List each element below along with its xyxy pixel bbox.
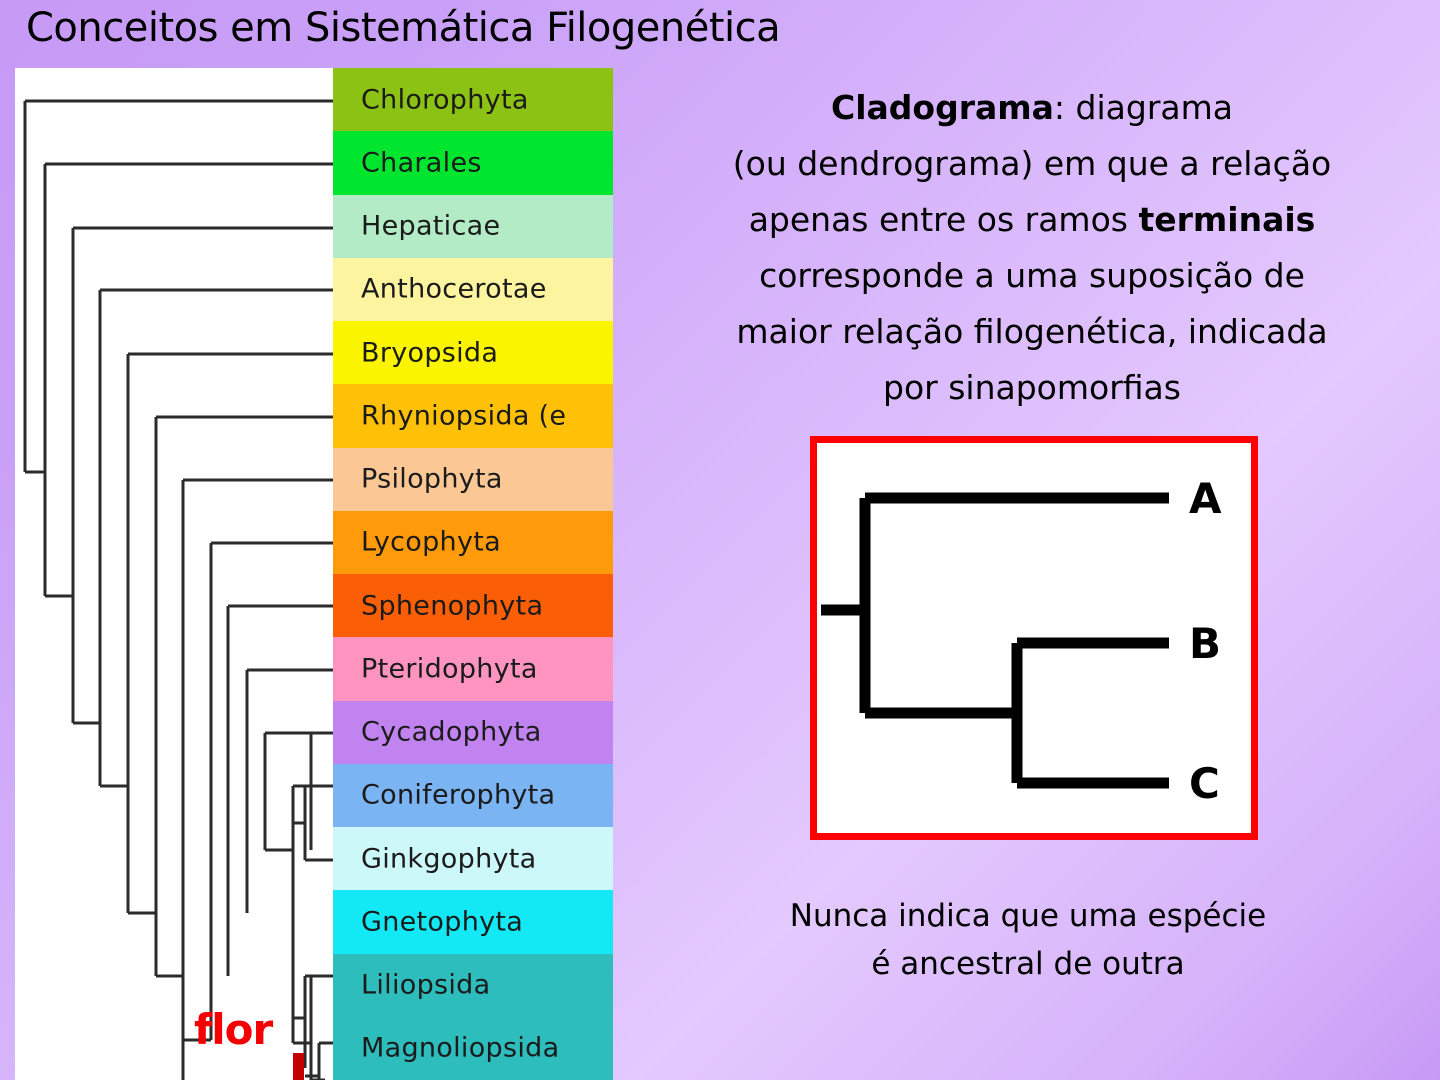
caption-line-2: é ancestral de outra — [658, 940, 1398, 988]
phylogeny-panel: Chlorophyta Charales Hepaticae Anthocero… — [15, 68, 613, 1080]
taxa-color-bands: Chlorophyta Charales Hepaticae Anthocero… — [333, 68, 613, 1080]
taxon-label: Pteridophyta — [361, 653, 538, 684]
taxon-label: Bryopsida — [361, 337, 498, 368]
definition-line-3: apenas entre os ramos terminais — [626, 192, 1438, 248]
definition-emph-terminais: terminais — [1138, 200, 1315, 239]
definition-line-4: corresponde a uma suposição de — [626, 248, 1438, 304]
example-cladogram-box: A B C — [810, 436, 1258, 840]
right-column: Cladograma: diagrama (ou dendrograma) em… — [618, 72, 1438, 1080]
taxon-row[interactable]: Chlorophyta — [333, 68, 613, 131]
definition-line-1: Cladograma: diagrama — [626, 80, 1438, 136]
taxon-row[interactable]: Lycophyta — [333, 511, 613, 574]
taxon-row[interactable]: Cycadophyta — [333, 701, 613, 764]
tip-label-a: A — [1189, 474, 1222, 523]
taxon-label: Ginkgophyta — [361, 843, 537, 874]
taxon-label: Hepaticae — [361, 211, 500, 242]
taxon-row[interactable]: Pteridophyta — [333, 637, 613, 700]
taxon-row[interactable]: Gnetophyta — [333, 890, 613, 953]
taxon-row[interactable]: Sphenophyta — [333, 574, 613, 637]
taxon-row[interactable]: Magnoliopsida — [333, 1017, 613, 1080]
taxon-label: Anthocerotae — [361, 274, 547, 305]
example-cladogram-svg: A B C — [817, 443, 1251, 833]
taxon-row[interactable]: Psilophyta — [333, 448, 613, 511]
taxon-row[interactable]: Anthocerotae — [333, 258, 613, 321]
definition-line-2: (ou dendrograma) em que a relação — [626, 136, 1438, 192]
taxon-label: Lycophyta — [361, 527, 501, 558]
taxon-row[interactable]: Bryopsida — [333, 321, 613, 384]
taxon-label: Magnoliopsida — [361, 1033, 559, 1064]
slide-canvas: Conceitos em Sistemática Filogenética — [0, 0, 1440, 1080]
synapomorphy-tick-flor — [293, 1053, 304, 1080]
taxon-label: Charales — [361, 147, 482, 178]
taxon-label: Chlorophyta — [361, 84, 529, 115]
definition-line-6: por sinapomorfias — [626, 360, 1438, 416]
taxon-row[interactable]: Coniferophyta — [333, 764, 613, 827]
caption-text: Nunca indica que uma espécie é ancestral… — [658, 892, 1398, 988]
cladogram-tree-svg — [15, 68, 333, 1080]
definition-line-5: maior relação filogenética, indicada — [626, 304, 1438, 360]
flor-annotation-label: flor — [194, 1006, 272, 1054]
definition-text: Cladograma: diagrama (ou dendrograma) em… — [626, 80, 1438, 416]
taxon-label: Rhyniopsida (e — [361, 400, 566, 431]
taxon-row[interactable]: Charales — [333, 131, 613, 194]
page-title: Conceitos em Sistemática Filogenética — [26, 4, 780, 52]
definition-line-3-pre: apenas entre os ramos — [749, 200, 1139, 239]
taxon-row[interactable]: Ginkgophyta — [333, 827, 613, 890]
definition-term: Cladograma — [831, 88, 1054, 127]
caption-line-1: Nunca indica que uma espécie — [658, 892, 1398, 940]
taxon-row[interactable]: Hepaticae — [333, 195, 613, 258]
taxon-label: Liliopsida — [361, 970, 490, 1001]
cladogram-tree — [15, 68, 333, 1080]
taxon-row[interactable]: Rhyniopsida (e — [333, 384, 613, 447]
tip-label-c: C — [1189, 759, 1220, 808]
taxon-label: Psilophyta — [361, 464, 503, 495]
definition-line-1-rest: : diagrama — [1054, 88, 1233, 127]
taxon-label: Gnetophyta — [361, 906, 523, 937]
taxon-row[interactable]: Liliopsida — [333, 954, 613, 1017]
taxon-label: Sphenophyta — [361, 590, 543, 621]
tip-label-b: B — [1189, 619, 1221, 668]
taxon-label: Coniferophyta — [361, 780, 555, 811]
taxon-label: Cycadophyta — [361, 717, 542, 748]
